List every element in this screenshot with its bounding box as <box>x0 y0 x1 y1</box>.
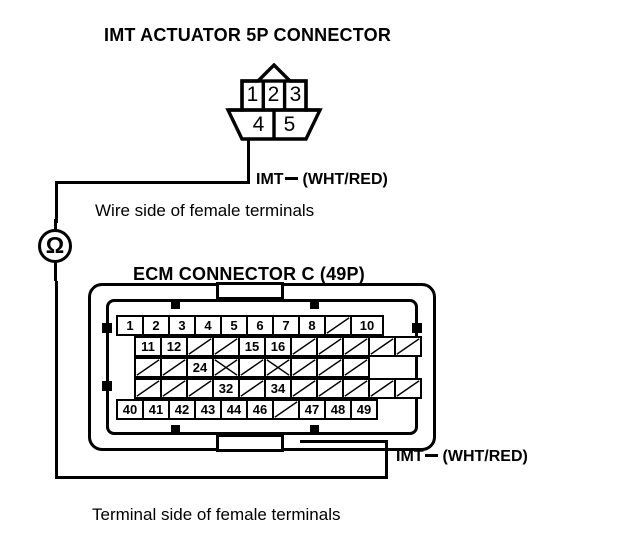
ecm-terminal-label: 41 <box>149 402 163 417</box>
ecm-terminal-label: 47 <box>305 402 319 417</box>
imt-wire-label-top-name: IMT <box>256 171 284 188</box>
ohmmeter-circle: Ω <box>38 229 72 263</box>
ecm-terminal-blank-slash <box>368 378 396 399</box>
ecm-terminal-blank-slash <box>316 357 344 378</box>
imt-pin-2: 2 <box>263 84 284 105</box>
ecm-terminal-label: 16 <box>271 339 285 354</box>
imt-pin-4: 4 <box>243 114 274 135</box>
ecm-top-latch <box>216 282 284 300</box>
ecm-bottom-latch <box>216 434 284 452</box>
wire-meter-upper-lead <box>55 181 58 223</box>
ecm-nub-top-right <box>310 300 319 309</box>
ecm-terminal-row: 1234567810 <box>116 315 384 336</box>
ecm-nub-bottom-right <box>310 425 319 434</box>
ecm-terminal-5: 5 <box>220 315 248 336</box>
ecm-terminal-8: 8 <box>298 315 326 336</box>
minus-sign-icon-bottom <box>425 454 438 457</box>
imt-pin-5: 5 <box>274 114 305 135</box>
ecm-nub-right-upper <box>412 323 422 333</box>
ecm-terminal-blank-slash <box>134 357 162 378</box>
ohmmeter-bottom-lead <box>54 261 57 281</box>
ecm-terminal-6: 6 <box>246 315 274 336</box>
wire-imt-pin2-vertical <box>247 139 250 184</box>
ecm-terminal-blank-slash <box>134 378 162 399</box>
ecm-terminal-blank-slash <box>290 378 318 399</box>
imt-connector-outline <box>212 63 336 161</box>
ecm-terminal-label: 42 <box>175 402 189 417</box>
ecm-terminal-32: 32 <box>212 378 240 399</box>
ecm-terminal-blank-cross <box>264 357 292 378</box>
imt-actuator-5p-connector: 1 2 3 4 5 <box>212 63 336 161</box>
ecm-terminal-label: 12 <box>167 339 181 354</box>
ecm-terminal-label: 7 <box>282 318 289 333</box>
ecm-terminal-label: 40 <box>123 402 137 417</box>
ecm-terminal-blank-slash <box>342 336 370 357</box>
ecm-terminal-40: 40 <box>116 399 144 420</box>
ecm-terminal-label: 24 <box>193 360 207 375</box>
ohmmeter: Ω <box>34 219 80 281</box>
ecm-terminal-blank-slash <box>368 336 396 357</box>
ecm-terminal-grid: 1234567810111215162432344041424344464748… <box>116 315 408 419</box>
ecm-terminal-row: 11121516 <box>134 336 422 357</box>
ecm-terminal-43: 43 <box>194 399 222 420</box>
ecm-terminal-label: 6 <box>256 318 263 333</box>
ecm-terminal-label: 4 <box>204 318 211 333</box>
ecm-terminal-10: 10 <box>350 315 384 336</box>
ecm-terminal-label: 11 <box>141 339 155 354</box>
imt-wire-label-bottom-color: (WHT/RED) <box>443 448 528 465</box>
ecm-terminal-label: 44 <box>227 402 241 417</box>
ecm-terminal-label: 8 <box>308 318 315 333</box>
ecm-terminal-42: 42 <box>168 399 196 420</box>
imt-pin-3: 3 <box>285 84 306 105</box>
ecm-terminal-label: 46 <box>253 402 267 417</box>
ecm-terminal-4: 4 <box>194 315 222 336</box>
ecm-terminal-label: 34 <box>271 381 285 396</box>
ecm-terminal-2: 2 <box>142 315 170 336</box>
ecm-terminal-label: 43 <box>201 402 215 417</box>
minus-sign-icon <box>285 177 298 180</box>
ecm-terminal-row: 3234 <box>134 378 422 399</box>
ecm-terminal-label: 48 <box>331 402 345 417</box>
ecm-terminal-47: 47 <box>298 399 326 420</box>
wiring-diagram-canvas: IMT ACTUATOR 5P CONNECTOR 1 2 3 4 5 IMT(… <box>0 0 624 534</box>
ecm-terminal-11: 11 <box>134 336 162 357</box>
ecm-terminal-label: 5 <box>230 318 237 333</box>
ecm-terminal-16: 16 <box>264 336 292 357</box>
ecm-terminal-3: 3 <box>168 315 196 336</box>
ecm-terminal-blank-slash <box>238 357 266 378</box>
ecm-terminal-label: 3 <box>178 318 185 333</box>
ecm-terminal-15: 15 <box>238 336 266 357</box>
ecm-terminal-24: 24 <box>186 357 214 378</box>
ecm-nub-bottom-left <box>171 425 180 434</box>
ecm-connector-c-49p: 1234567810111215162432344041424344464748… <box>88 283 436 451</box>
ecm-nub-top-left <box>171 300 180 309</box>
ecm-terminal-1: 1 <box>116 315 144 336</box>
imt-wire-label-top-color: (WHT/RED) <box>303 171 388 188</box>
ecm-terminal-7: 7 <box>272 315 300 336</box>
imt-wire-label-bottom-name: IMT <box>396 448 424 465</box>
ecm-terminal-blank-slash <box>186 378 214 399</box>
ecm-terminal-row: 24 <box>134 357 370 378</box>
ecm-terminal-12: 12 <box>160 336 188 357</box>
wire-ecm-leader <box>300 440 388 443</box>
ecm-terminal-label: 49 <box>357 402 371 417</box>
ecm-terminal-blank-cross <box>212 357 240 378</box>
ecm-terminal-46: 46 <box>246 399 274 420</box>
imt-wire-label-top: IMT(WHT/RED) <box>256 171 388 189</box>
ecm-nub-left-upper <box>102 323 112 333</box>
ecm-terminal-label: 15 <box>245 339 259 354</box>
ecm-terminal-label: 2 <box>152 318 159 333</box>
ecm-terminal-blank-slash <box>342 378 370 399</box>
ecm-terminal-41: 41 <box>142 399 170 420</box>
ecm-terminal-row: 404142434446474849 <box>116 399 378 420</box>
ecm-terminal-label: 1 <box>126 318 133 333</box>
wire-ecm-vertical <box>385 440 388 479</box>
terminal-side-caption: Terminal side of female terminals <box>92 505 340 525</box>
ecm-terminal-48: 48 <box>324 399 352 420</box>
ecm-nub-left-lower <box>102 381 112 391</box>
ecm-terminal-blank-slash <box>290 336 318 357</box>
omega-icon: Ω <box>46 234 64 257</box>
ecm-terminal-blank-slash <box>212 336 240 357</box>
ecm-terminal-blank-slash <box>160 378 188 399</box>
imt-connector-title: IMT ACTUATOR 5P CONNECTOR <box>104 25 391 46</box>
ecm-terminal-34: 34 <box>264 378 292 399</box>
wire-imt-horizontal <box>55 181 250 184</box>
ecm-terminal-44: 44 <box>220 399 248 420</box>
ecm-terminal-blank-slash <box>394 336 422 357</box>
wire-bottom-horizontal <box>55 476 388 479</box>
ecm-terminal-blank-slash <box>290 357 318 378</box>
ecm-terminal-blank-slash <box>316 336 344 357</box>
ecm-terminal-blank-slash <box>186 336 214 357</box>
ecm-terminal-blank-slash <box>316 378 344 399</box>
ecm-terminal-label: 32 <box>219 381 233 396</box>
ecm-terminal-label: 10 <box>360 318 374 333</box>
ecm-terminal-blank-slash <box>160 357 188 378</box>
ecm-terminal-blank-slash <box>394 378 422 399</box>
ecm-terminal-blank-slash <box>272 399 300 420</box>
ecm-terminal-blank-slash <box>238 378 266 399</box>
ecm-terminal-blank-slash <box>324 315 352 336</box>
ecm-terminal-blank-slash <box>342 357 370 378</box>
imt-pin-1: 1 <box>242 84 263 105</box>
ecm-terminal-49: 49 <box>350 399 378 420</box>
wire-side-caption: Wire side of female terminals <box>95 201 314 221</box>
imt-wire-label-bottom: IMT(WHT/RED) <box>396 448 528 466</box>
wire-meter-lower-lead <box>55 281 58 479</box>
